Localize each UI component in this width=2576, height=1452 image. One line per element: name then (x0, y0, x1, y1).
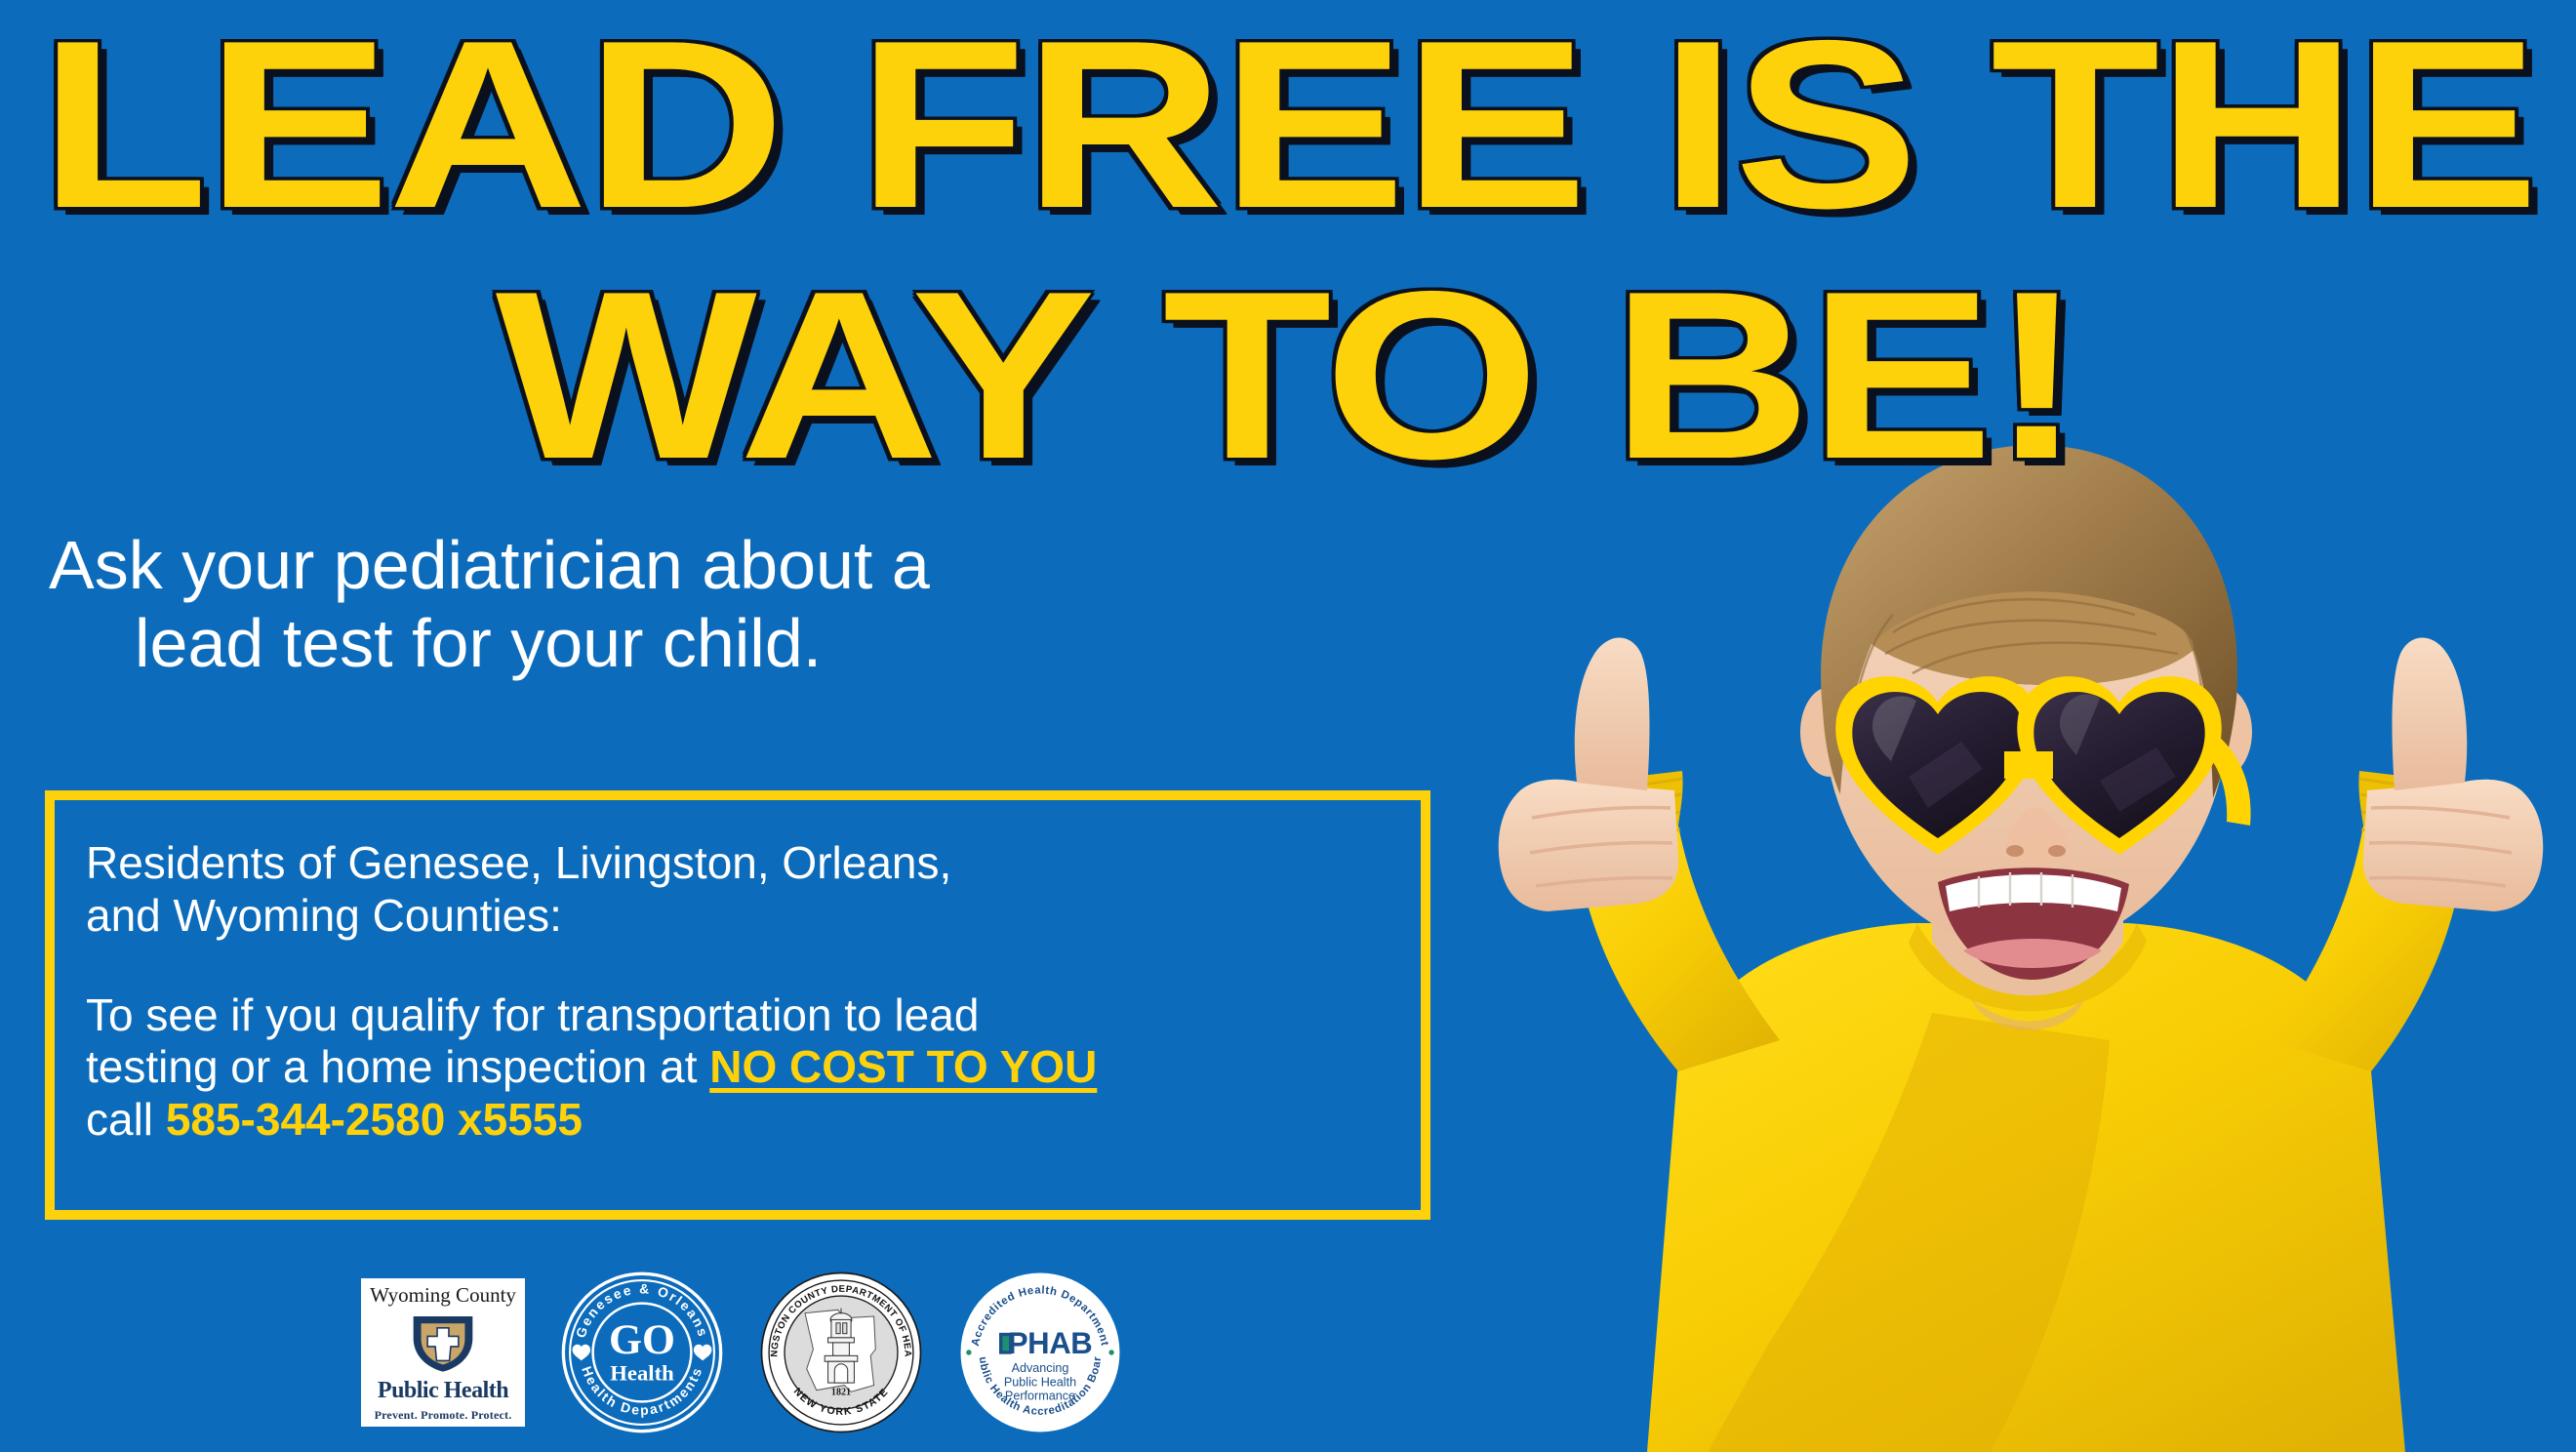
phab-center-line-2: Public Health (1004, 1375, 1076, 1389)
callout-p1-line1: Residents of Genesee, Livingston, Orlean… (86, 837, 951, 888)
no-cost-emphasis: NO COST TO YOU (709, 1041, 1097, 1092)
public-health-tagline: Prevent. Promote. Protect. (375, 1409, 512, 1421)
callout-p2-line2-prefix: testing or a home inspection at (86, 1041, 709, 1092)
callout-spacer (86, 943, 1391, 989)
livingston-year: 1821 (831, 1388, 851, 1398)
health-wordmark: Health (610, 1361, 674, 1386)
callout-p1-line2: and Wyoming Counties: (86, 890, 562, 941)
callout-paragraph-2: To see if you qualify for transportation… (86, 989, 1391, 1147)
phab-center-line-3: Performance (1005, 1390, 1075, 1403)
headline-line-1: LEAD FREE IS THE (0, 8, 2576, 242)
child-photo (1386, 388, 2576, 1452)
logo-livingston-county-doh-seal: 1821 LIVINGSTON COUNTY DEPARTMENT OF HEA… (759, 1270, 923, 1434)
logo-wyoming-county-public-health: Wyoming County Public Health Prevent. Pr… (361, 1278, 525, 1427)
callout-box: Residents of Genesee, Livingston, Orlean… (45, 790, 1430, 1220)
subhead-line-1: Ask your pediatrician about a (29, 527, 1425, 605)
subhead-line-2: lead test for your child. (29, 605, 1425, 683)
page-title: LEAD FREE IS THE WAY TO BE! (0, 8, 2576, 464)
public-health-label: Public Health (378, 1379, 508, 1402)
phab-center-line-1: Advancing (1012, 1361, 1069, 1375)
logo-row: Wyoming County Public Health Prevent. Pr… (361, 1265, 1122, 1440)
logo-phab-seal: Accredited Health Department Public Heal… (958, 1270, 1122, 1434)
phab-wordmark: PHAB (1008, 1326, 1092, 1360)
wyoming-county-label: Wyoming County (370, 1285, 516, 1306)
phone-number[interactable]: 585-344-2580 x5555 (166, 1094, 583, 1145)
headline-line-2: WAY TO BE! (0, 259, 2576, 493)
lead-free-poster: LEAD FREE IS THE WAY TO BE! Ask your ped… (0, 0, 2576, 1452)
callout-paragraph-1: Residents of Genesee, Livingston, Orlean… (86, 837, 1391, 943)
go-wordmark: GO (609, 1316, 675, 1363)
callout-call-prefix: call (86, 1094, 166, 1145)
subhead: Ask your pediatrician about a lead test … (29, 527, 1425, 683)
logo-go-health-seal: Genesee & Orleans Health Departments GO … (560, 1270, 724, 1434)
shield-with-cross-icon (411, 1312, 475, 1373)
callout-p2-line1: To see if you qualify for transportation… (86, 989, 979, 1040)
